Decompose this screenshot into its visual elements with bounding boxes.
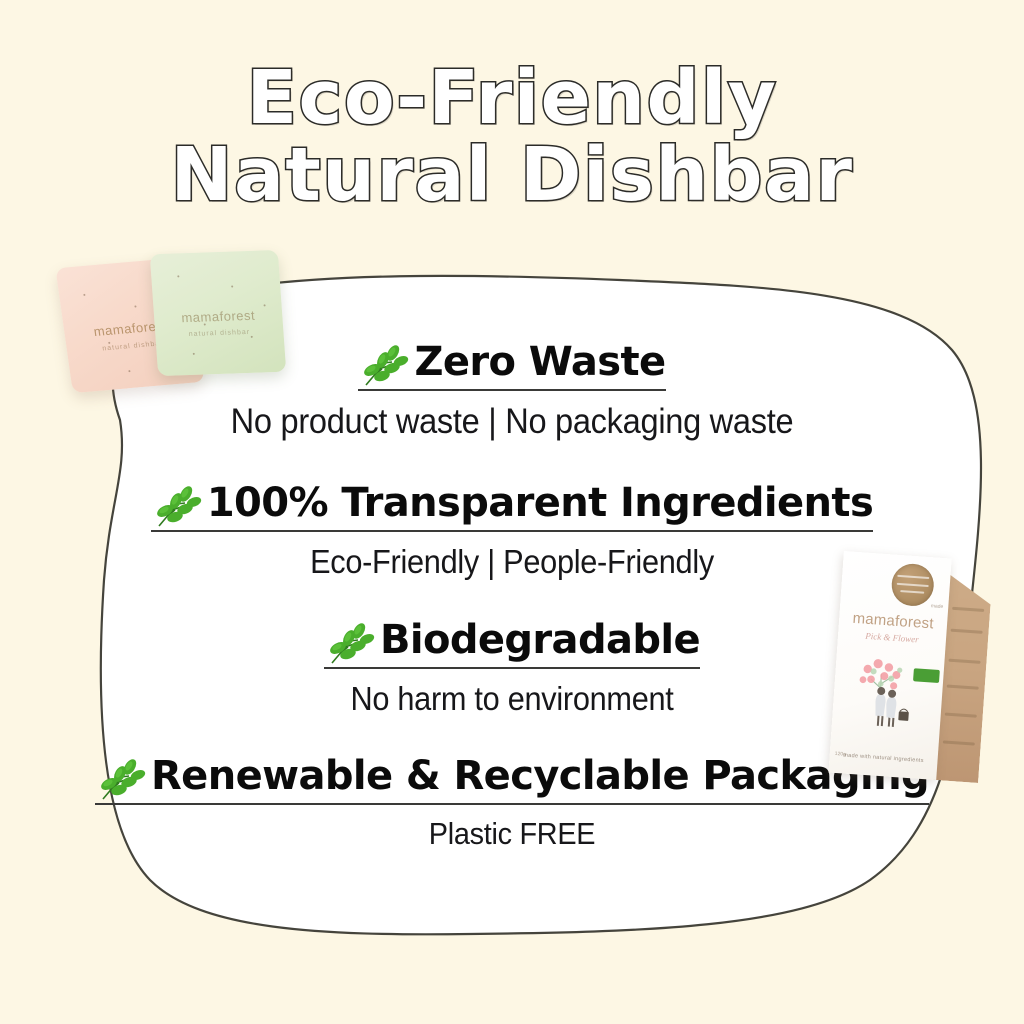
- soap-brand-label: mamaforest: [154, 307, 283, 326]
- feature-heading-row: 100% Transparent Ingredients: [151, 477, 873, 532]
- feature-title: Zero Waste: [414, 341, 665, 383]
- feature-heading-row: Renewable & Recyclable Packaging: [95, 750, 929, 805]
- carton-footer-label: made with natural ingredients: [837, 751, 929, 766]
- tree-and-person-illustration: [847, 652, 928, 735]
- feature-heading-row: Biodegradable: [324, 614, 700, 669]
- leaf-branch-icon: [95, 753, 147, 805]
- feature-title: 100% Transparent Ingredients: [207, 482, 873, 524]
- leaf-branch-icon: [324, 617, 376, 669]
- carton-code-label: made: [931, 603, 944, 610]
- carton-package-photo: made mamaforest Pick & Flower: [828, 547, 994, 787]
- soap-bar-green: mamaforest natural dishbar: [150, 250, 287, 376]
- feature-heading-row: Zero Waste: [358, 336, 665, 391]
- soap-bars-photo: mamaforest natural dishbar mamaforest na…: [58, 248, 308, 413]
- leaf-branch-icon: [358, 339, 410, 391]
- carton-front-panel: made mamaforest Pick & Flower: [828, 551, 951, 780]
- poster-canvas: Eco-Friendly Natural Dishbar: [0, 0, 1024, 1024]
- soap-sub-label: natural dishbar: [155, 328, 283, 339]
- feature-title: Renewable & Recyclable Packaging: [151, 755, 929, 797]
- vegan-badge: [913, 668, 940, 683]
- feature-title: Biodegradable: [380, 619, 700, 661]
- leaf-branch-icon: [151, 480, 203, 532]
- eco-seal-icon: [890, 563, 935, 608]
- feature-subtext: Plastic FREE: [36, 815, 988, 852]
